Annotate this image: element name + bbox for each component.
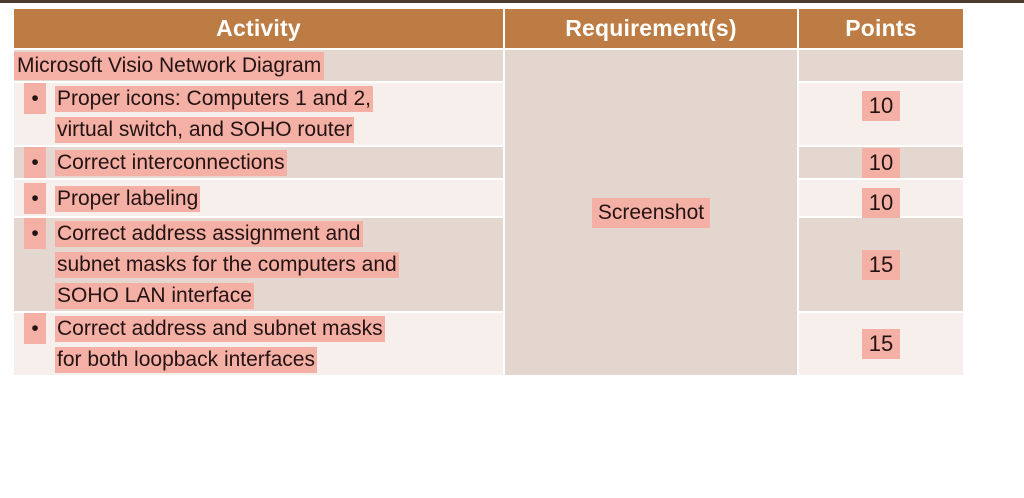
activity-text-line: for both loopback interfaces (55, 347, 317, 373)
points-value: 15 (862, 250, 900, 280)
column-header-requirements: Requirement(s) (505, 9, 797, 48)
column-header-activity: Activity (14, 9, 503, 48)
activity-text-line: SOHO LAN interface (55, 283, 254, 309)
points-cell: 10 (799, 147, 963, 178)
activity-text-line: Correct interconnections (55, 150, 287, 176)
bullet-icon: • (24, 183, 46, 214)
grading-rubric-table: Activity Requirement(s) Points Microsoft… (12, 7, 965, 377)
points-cell: 15 (799, 313, 963, 375)
activity-text: Correct address assignment andsubnet mas… (55, 218, 399, 311)
table-row: • Correct address and subnet masksfor bo… (14, 313, 963, 375)
requirement-text: Screenshot (592, 198, 710, 228)
column-header-points: Points (799, 9, 963, 48)
activity-text: Proper labeling (55, 183, 200, 214)
activity-text-line: subnet masks for the computers and (55, 252, 399, 278)
points-value: 10 (862, 188, 900, 218)
requirement-cell-screenshot: Screenshot (505, 50, 797, 375)
table-row: • Correct address assignment andsubnet m… (14, 218, 963, 311)
points-cell-empty (799, 50, 963, 81)
bullet-icon: • (24, 313, 46, 344)
table-row: • Proper icons: Computers 1 and 2,virtua… (14, 83, 963, 145)
activity-text-line: Proper icons: Computers 1 and 2, (55, 86, 373, 112)
activity-cell-proper-labeling: • Proper labeling (14, 180, 503, 216)
activity-text: Correct address and subnet masksfor both… (55, 313, 385, 375)
points-cell: 10 (799, 83, 963, 145)
points-cell: 15 (799, 218, 963, 311)
table-row: • Proper labeling 10 (14, 180, 963, 216)
activity-text-line: Correct address assignment and (55, 221, 363, 247)
activity-cell-proper-icons: • Proper icons: Computers 1 and 2,virtua… (14, 83, 503, 145)
activity-text-line: Proper labeling (55, 186, 200, 212)
activity-text-line: Correct address and subnet masks (55, 316, 385, 342)
table-row: Microsoft Visio Network Diagram Screensh… (14, 50, 963, 81)
points-value: 15 (862, 329, 900, 359)
top-border-strip (0, 0, 1024, 3)
points-value: 10 (862, 148, 900, 178)
activity-cell-address-assignment: • Correct address assignment andsubnet m… (14, 218, 503, 311)
bullet-icon: • (24, 83, 46, 114)
points-value: 10 (862, 91, 900, 121)
bullet-icon: • (24, 147, 46, 178)
activity-cell-correct-interconnections: • Correct interconnections (14, 147, 503, 178)
table-row: • Correct interconnections 10 (14, 147, 963, 178)
bullet-icon: • (24, 218, 46, 249)
points-cell: 10 (799, 180, 963, 216)
activity-cell-title: Microsoft Visio Network Diagram (14, 50, 503, 81)
activity-text: Proper icons: Computers 1 and 2,virtual … (55, 83, 373, 145)
table-header-row: Activity Requirement(s) Points (14, 9, 963, 48)
activity-text: Microsoft Visio Network Diagram (14, 52, 324, 80)
activity-cell-loopback-interfaces: • Correct address and subnet masksfor bo… (14, 313, 503, 375)
activity-text: Correct interconnections (55, 147, 287, 178)
activity-text-line: virtual switch, and SOHO router (55, 117, 354, 143)
